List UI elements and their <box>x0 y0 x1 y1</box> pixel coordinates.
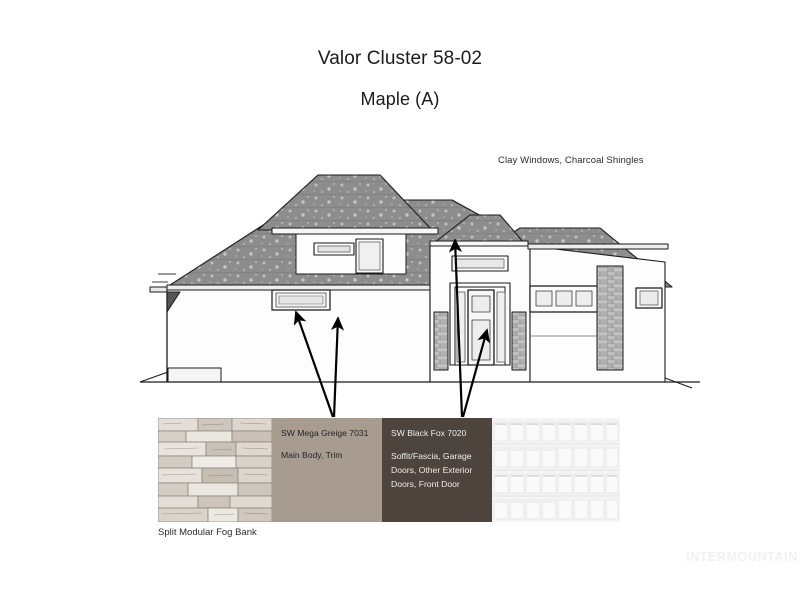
material-swatch-strip: SW Mega Greige 7031 Main Body, Trim SW B… <box>158 418 620 522</box>
swatch-black-name: SW Black Fox 7020 <box>391 427 466 441</box>
page-title: Valor Cluster 58-02 <box>0 48 800 70</box>
swatch-garage-door <box>492 418 620 522</box>
swatch-stone-texture <box>158 418 272 522</box>
swatch-greige-usage: Main Body, Trim <box>281 449 342 463</box>
page-subtitle: Maple (A) <box>0 89 800 110</box>
stone-caption: Split Modular Fog Bank <box>158 527 257 538</box>
elevation-sheet: Valor Cluster 58-02 Maple (A) Clay Windo… <box>0 0 800 600</box>
swatch-mega-greige: SW Mega Greige 7031 Main Body, Trim <box>272 418 382 522</box>
swatch-greige-name: SW Mega Greige 7031 <box>281 427 368 441</box>
swatch-black-fox: SW Black Fox 7020 Soffit/Fascia, Garage … <box>382 418 492 522</box>
windows-shingles-note: Clay Windows, Charcoal Shingles <box>498 155 644 166</box>
watermark: INTERMOUNTAIN <box>686 550 798 564</box>
swatch-black-usage: Soffit/Fascia, Garage Doors, Other Exter… <box>391 449 487 491</box>
